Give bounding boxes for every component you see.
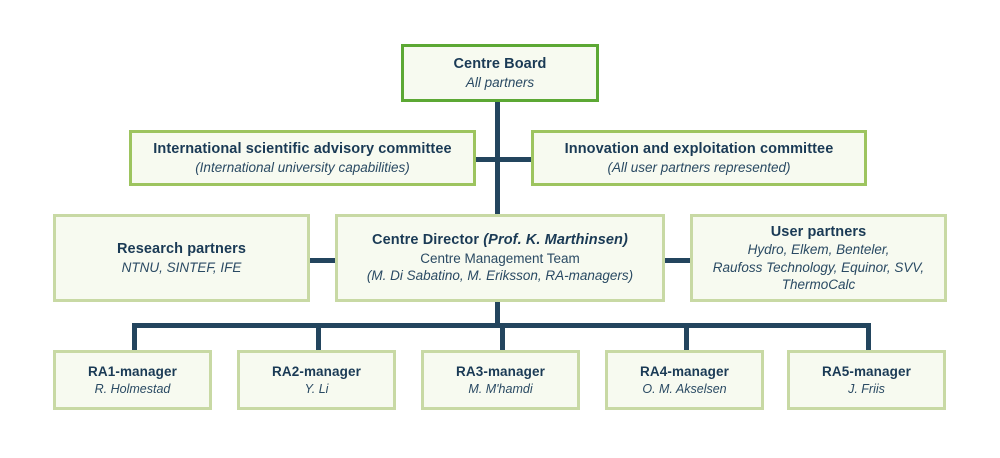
- connector-ra-drop-4: [684, 323, 689, 350]
- node-ra-manager-1[interactable]: RA1-manager R. Holmestad: [53, 350, 212, 410]
- org-chart: Centre Board All partners International …: [0, 0, 1000, 458]
- node-ra-manager-2[interactable]: RA2-manager Y. Li: [237, 350, 396, 410]
- ra-manager-5-name: J. Friis: [848, 381, 885, 397]
- connector-ra-drop-5: [866, 323, 871, 350]
- node-centre-director[interactable]: Centre Director (Prof. K. Marthinsen) Ce…: [335, 214, 665, 302]
- node-ra-manager-5[interactable]: RA5-manager J. Friis: [787, 350, 946, 410]
- node-ra-manager-3[interactable]: RA3-manager M. M'hamdi: [421, 350, 580, 410]
- centre-management-team-label: Centre Management Team: [420, 250, 580, 267]
- connector-director-to-research: [310, 258, 338, 263]
- node-ra-manager-4[interactable]: RA4-manager O. M. Akselsen: [605, 350, 764, 410]
- connector-ra-drop-2: [316, 323, 321, 350]
- centre-director-title: Centre Director (Prof. K. Marthinsen): [372, 231, 628, 250]
- connector-ra-drop-3: [500, 323, 505, 350]
- ra-manager-2-title: RA2-manager: [272, 363, 361, 380]
- innovation-committee-subtitle: (All user partners represented): [607, 159, 790, 176]
- connector-committee-bus: [470, 157, 535, 162]
- user-partners-line-3: ThermoCalc: [782, 276, 856, 293]
- connector-director-to-ra-bus: [495, 302, 500, 325]
- connector-ra-drop-1: [132, 323, 137, 350]
- advisory-committee-subtitle: (International university capabilities): [195, 159, 410, 176]
- ra-manager-3-name: M. M'hamdi: [468, 381, 532, 397]
- centre-management-team-members: (M. Di Sabatino, M. Eriksson, RA-manager…: [367, 267, 633, 284]
- ra-manager-2-name: Y. Li: [305, 381, 329, 397]
- user-partners-line-2: Raufoss Technology, Equinor, SVV,: [713, 259, 924, 276]
- ra-manager-5-title: RA5-manager: [822, 363, 911, 380]
- research-partners-subtitle: NTNU, SINTEF, IFE: [122, 259, 242, 276]
- node-centre-board[interactable]: Centre Board All partners: [401, 44, 599, 102]
- centre-director-role: Centre Director: [372, 232, 479, 248]
- node-innovation-committee[interactable]: Innovation and exploitation committee (A…: [531, 130, 867, 186]
- innovation-committee-title: Innovation and exploitation committee: [565, 140, 834, 159]
- ra-manager-4-name: O. M. Akselsen: [642, 381, 726, 397]
- centre-board-title: Centre Board: [453, 55, 546, 74]
- user-partners-title: User partners: [771, 223, 867, 242]
- ra-manager-3-title: RA3-manager: [456, 363, 545, 380]
- advisory-committee-title: International scientific advisory commit…: [153, 140, 451, 159]
- node-user-partners[interactable]: User partners Hydro, Elkem, Benteler, Ra…: [690, 214, 947, 302]
- centre-board-subtitle: All partners: [466, 74, 534, 91]
- ra-manager-4-title: RA4-manager: [640, 363, 729, 380]
- connector-director-to-users: [663, 258, 692, 263]
- ra-manager-1-title: RA1-manager: [88, 363, 177, 380]
- user-partners-line-1: Hydro, Elkem, Benteler,: [748, 241, 890, 258]
- centre-director-name: (Prof. K. Marthinsen): [483, 232, 628, 248]
- node-advisory-committee[interactable]: International scientific advisory commit…: [129, 130, 476, 186]
- research-partners-title: Research partners: [117, 240, 246, 259]
- node-research-partners[interactable]: Research partners NTNU, SINTEF, IFE: [53, 214, 310, 302]
- ra-manager-1-name: R. Holmestad: [95, 381, 171, 397]
